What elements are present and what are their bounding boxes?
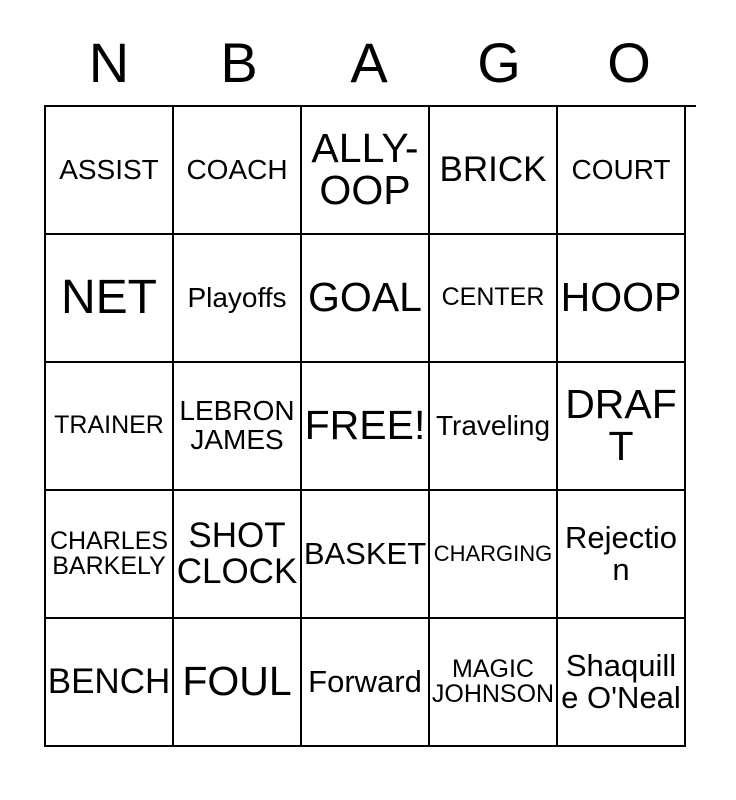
bingo-cell-label: CENTER: [431, 285, 555, 311]
header-letter-1: B: [174, 20, 304, 105]
bingo-cell-r4c5[interactable]: Rejection: [558, 491, 686, 619]
bingo-cell-r2c5[interactable]: HOOP: [558, 235, 686, 363]
bingo-cell-label: TRAINER: [47, 413, 171, 439]
bingo-cell-r3c5[interactable]: DRAFT: [558, 363, 686, 491]
bingo-cell-label: FOUL: [175, 661, 299, 703]
bingo-cell-label: Traveling: [431, 412, 555, 441]
bingo-cell-label: ALLY-OOP: [303, 128, 427, 212]
bingo-cell-label: HOOP: [559, 277, 683, 319]
bingo-cell-label: FREE!: [303, 405, 427, 447]
bingo-cell-r4c2[interactable]: SHOT CLOCK: [174, 491, 302, 619]
bingo-cell-label: SHOT CLOCK: [175, 518, 299, 589]
bingo-row-5: BENCH FOUL Forward MAGIC JOHNSON Shaquil…: [46, 619, 696, 747]
header-letter-4: O: [564, 20, 694, 105]
bingo-header: N B A G O: [44, 20, 694, 105]
bingo-grid: ASSIST COACH ALLY-OOP BRICK COURT NET Pl…: [44, 105, 696, 747]
bingo-cell-label: Forward: [303, 666, 427, 698]
bingo-cell-r5c1[interactable]: BENCH: [46, 619, 174, 747]
bingo-cell-r3c4[interactable]: Traveling: [430, 363, 558, 491]
bingo-cell-r4c3[interactable]: BASKET: [302, 491, 430, 619]
bingo-cell-label: CHARGING: [431, 543, 555, 565]
bingo-cell-r3c2[interactable]: LEBRON JAMES: [174, 363, 302, 491]
bingo-card: N B A G O ASSIST COACH ALLY-OOP BRICK CO…: [44, 20, 694, 747]
bingo-cell-label: BRICK: [431, 152, 555, 188]
bingo-cell-label: COURT: [559, 156, 683, 185]
bingo-row-2: NET Playoffs GOAL CENTER HOOP: [46, 235, 696, 363]
bingo-cell-r3c1[interactable]: TRAINER: [46, 363, 174, 491]
bingo-row-3: TRAINER LEBRON JAMES FREE! Traveling DRA…: [46, 363, 696, 491]
bingo-cell-r1c3[interactable]: ALLY-OOP: [302, 107, 430, 235]
bingo-cell-label: GOAL: [303, 277, 427, 319]
bingo-cell-r1c1[interactable]: ASSIST: [46, 107, 174, 235]
bingo-cell-label: Rejection: [559, 522, 683, 585]
bingo-cell-r4c4[interactable]: CHARGING: [430, 491, 558, 619]
bingo-cell-r1c4[interactable]: BRICK: [430, 107, 558, 235]
bingo-cell-r1c2[interactable]: COACH: [174, 107, 302, 235]
bingo-cell-r1c5[interactable]: COURT: [558, 107, 686, 235]
bingo-row-1: ASSIST COACH ALLY-OOP BRICK COURT: [46, 107, 696, 235]
bingo-cell-label: COACH: [175, 156, 299, 185]
bingo-cell-label: LEBRON JAMES: [175, 397, 299, 454]
bingo-cell-r3c3-free[interactable]: FREE!: [302, 363, 430, 491]
bingo-cell-label: NET: [47, 274, 171, 323]
bingo-cell-r5c4[interactable]: MAGIC JOHNSON: [430, 619, 558, 747]
bingo-cell-r2c1[interactable]: NET: [46, 235, 174, 363]
bingo-cell-label: ASSIST: [47, 156, 171, 185]
bingo-cell-label: Playoffs: [175, 284, 299, 313]
bingo-cell-label: CHARLES BARKELY: [47, 529, 171, 580]
bingo-cell-r2c3[interactable]: GOAL: [302, 235, 430, 363]
bingo-cell-r5c5[interactable]: Shaquille O'Neal: [558, 619, 686, 747]
header-letter-3: G: [434, 20, 564, 105]
bingo-cell-r5c2[interactable]: FOUL: [174, 619, 302, 747]
bingo-cell-r2c2[interactable]: Playoffs: [174, 235, 302, 363]
bingo-cell-label: BASKET: [303, 538, 427, 570]
bingo-cell-r5c3[interactable]: Forward: [302, 619, 430, 747]
bingo-cell-label: MAGIC JOHNSON: [431, 657, 555, 708]
bingo-cell-label: BENCH: [47, 664, 171, 700]
bingo-cell-r2c4[interactable]: CENTER: [430, 235, 558, 363]
header-letter-2: A: [304, 20, 434, 105]
bingo-cell-label: Shaquille O'Neal: [559, 650, 683, 713]
header-letter-0: N: [44, 20, 174, 105]
bingo-cell-r4c1[interactable]: CHARLES BARKELY: [46, 491, 174, 619]
bingo-cell-label: DRAFT: [559, 384, 683, 468]
bingo-row-4: CHARLES BARKELY SHOT CLOCK BASKET CHARGI…: [46, 491, 696, 619]
